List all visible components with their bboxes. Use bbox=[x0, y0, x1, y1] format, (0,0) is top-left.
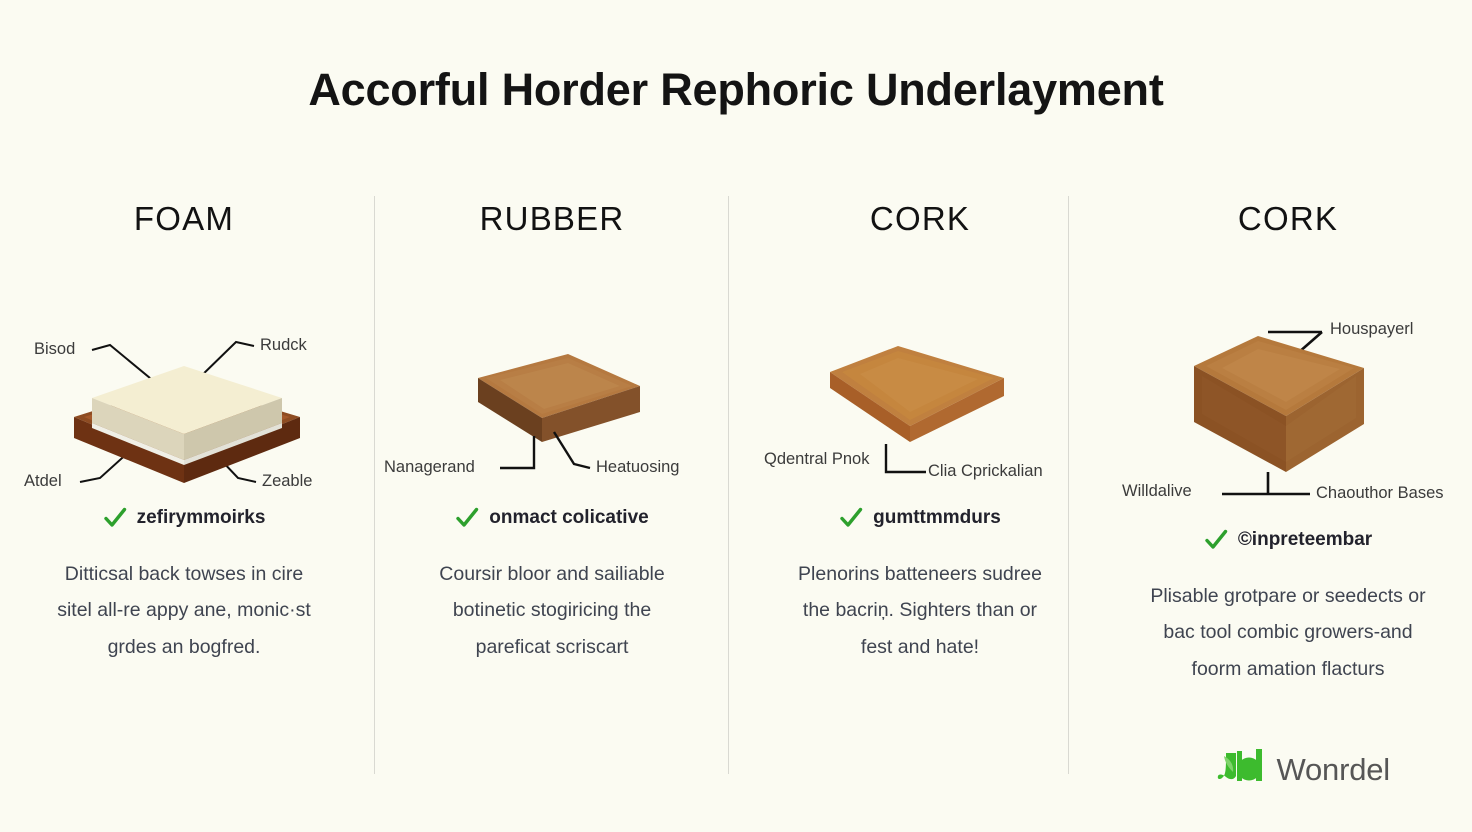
cork-thick-label-willdalive: Willdalive bbox=[1122, 482, 1192, 501]
feature-label-rubber: onmact colicative bbox=[489, 507, 648, 529]
blurb-foam: Ditticsal back towses in cire sitel all-… bbox=[54, 556, 314, 665]
column-cork-thin: CORK Qdentral Pnok Clia Cprickalian bbox=[736, 182, 1104, 782]
blurb-cork-thick: Plisable grotpare or seedects or bac too… bbox=[1143, 578, 1433, 687]
column-heading-rubber: RUBBER bbox=[480, 200, 625, 238]
column-heading-cork-thin: CORK bbox=[870, 200, 970, 238]
cork-thin-label-qdentral-pnok: Qdentral Pnok bbox=[764, 448, 874, 470]
feature-cork-thin: gumttmmdurs bbox=[839, 506, 1001, 530]
comparison-columns: FOAM bbox=[0, 182, 1472, 782]
check-icon bbox=[839, 506, 863, 530]
feature-label-cork-thin: gumttmmdurs bbox=[873, 507, 1001, 529]
feature-rubber: onmact colicative bbox=[455, 506, 648, 530]
jd-leaf-mark-icon bbox=[1216, 747, 1268, 792]
cork-thick-label-chaouthor-bases: Chaouthor Bases bbox=[1316, 482, 1446, 504]
foam-label-bisod: Bisod bbox=[34, 340, 75, 359]
foam-block-illustration bbox=[14, 250, 354, 500]
feature-cork-thick: ©inpreteembar bbox=[1204, 528, 1372, 552]
foam-label-zeable: Zeable bbox=[262, 472, 312, 491]
check-icon bbox=[455, 506, 479, 530]
cork-thin-diagram: Qdentral Pnok Clia Cprickalian bbox=[750, 250, 1090, 500]
column-cork-thick: CORK bbox=[1104, 182, 1472, 782]
column-heading-foam: FOAM bbox=[134, 200, 234, 238]
page-title: Accorful Horder Rephoric Underlayment bbox=[0, 64, 1472, 116]
check-icon bbox=[1204, 528, 1228, 552]
column-foam: FOAM bbox=[0, 182, 368, 782]
foam-label-rudck: Rudck bbox=[260, 336, 307, 355]
cork-thin-label-clia-cprickalian: Clia Cprickalian bbox=[928, 462, 1043, 481]
cork-thick-diagram: Houspayerl Willdalive Chaouthor Bases bbox=[1118, 250, 1458, 500]
rubber-diagram: Nanagerand Heatuosing bbox=[382, 250, 722, 500]
rubber-label-nanagerand: Nanagerand bbox=[384, 458, 475, 477]
feature-label-cork-thick: ©inpreteembar bbox=[1238, 529, 1372, 551]
cork-thick-block-illustration bbox=[1118, 250, 1458, 500]
feature-label-foam: zefirymmoirks bbox=[137, 507, 266, 529]
blurb-rubber: Coursir bloor and sailiable botinetic st… bbox=[422, 556, 682, 665]
foam-label-atdel: Atdel bbox=[24, 472, 62, 491]
foam-diagram: Bisod Rudck Atdel Zeable bbox=[14, 250, 354, 500]
brand-logo: Wonrdel bbox=[1216, 747, 1390, 792]
brand-name: Wonrdel bbox=[1277, 752, 1390, 788]
rubber-label-heatuosing: Heatuosing bbox=[596, 458, 679, 477]
feature-foam: zefirymmoirks bbox=[103, 506, 266, 530]
column-heading-cork-thick: CORK bbox=[1238, 200, 1338, 238]
column-rubber: RUBBER Nanagerand Heatuosing bbox=[368, 182, 736, 782]
cork-thick-label-houspayerl: Houspayerl bbox=[1330, 320, 1413, 339]
blurb-cork-thin: Plenorins batteneers sudree the bacriņ. … bbox=[790, 556, 1050, 665]
check-icon bbox=[103, 506, 127, 530]
poster-canvas: Accorful Horder Rephoric Underlayment FO… bbox=[0, 0, 1472, 832]
